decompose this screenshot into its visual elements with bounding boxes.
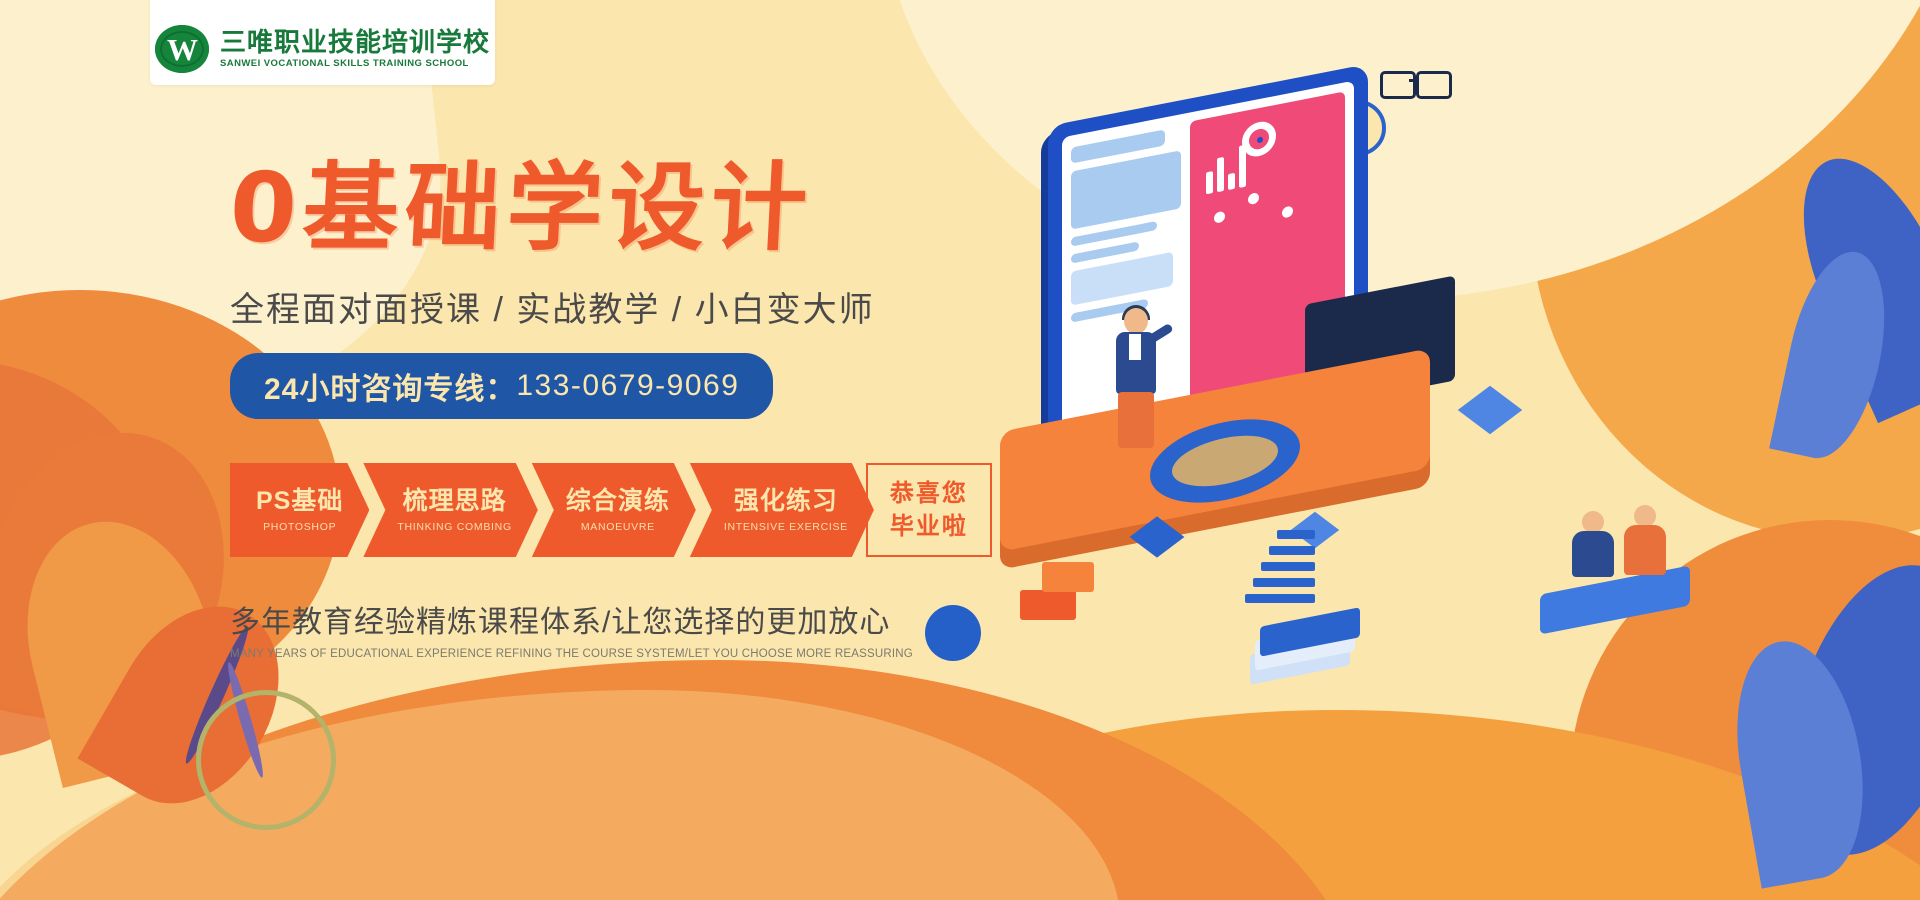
olive-ring-decoration	[196, 690, 336, 830]
step-item[interactable]: 强化练习 INTENSIVE EXERCISE	[690, 463, 874, 557]
step-item[interactable]: 梳理思路 THINKING COMBING	[363, 463, 537, 557]
card-stack-illustration	[1250, 605, 1360, 685]
seated-people-illustration	[1560, 505, 1690, 615]
step-label-cn: 综合演练	[566, 487, 670, 516]
step-label-en: INTENSIVE EXERCISE	[724, 521, 848, 533]
banner-content: 0基础学设计 全程面对面授课 / 实战教学 / 小白变大师 24小时咨询专线： …	[230, 160, 990, 660]
hotline-badge[interactable]: 24小时咨询专线： 133-0679-9069	[230, 353, 773, 419]
step-label-cn: 强化练习	[734, 487, 838, 516]
promo-banner: W 三唯职业技能培训学校 SANWEI VOCATIONAL SKILLS TR…	[0, 0, 1920, 900]
glasses-icon	[1380, 68, 1454, 96]
illustration	[1000, 60, 1900, 860]
tagline-en: MANY YEARS OF EDUCATIONAL EXPERIENCE REF…	[230, 648, 990, 660]
step-label-cn: 梳理思路	[403, 487, 507, 516]
graduation-badge[interactable]: 恭喜您 毕业啦	[866, 463, 992, 557]
cube-decoration-1	[1458, 386, 1523, 435]
graduation-line-1: 恭喜您	[890, 477, 968, 510]
hotline-number: 133-0679-9069	[516, 369, 739, 403]
subtitle: 全程面对面授课 / 实战教学 / 小白变大师	[230, 282, 990, 331]
presenter-figure	[1108, 308, 1166, 448]
step-label-en: PHOTOSHOP	[263, 521, 336, 533]
tagline-cn: 多年教育经验精炼课程体系/让您选择的更加放心	[230, 597, 990, 641]
course-steps: PS基础 PHOTOSHOP 梳理思路 THINKING COMBING 综合演…	[230, 463, 990, 557]
logo-mark-letter: W	[167, 34, 197, 65]
graduation-line-2: 毕业啦	[890, 510, 968, 543]
logo-w-icon: W	[155, 25, 209, 73]
blue-dot-decoration	[925, 605, 981, 661]
brand-name-en: SANWEI VOCATIONAL SKILLS TRAINING SCHOOL	[220, 58, 490, 69]
hotline-label: 24小时咨询专线：	[264, 364, 516, 408]
step-label-en: THINKING COMBING	[397, 521, 511, 533]
page-title: 0基础学设计	[227, 160, 992, 256]
brand-logo[interactable]: W 三唯职业技能培训学校 SANWEI VOCATIONAL SKILLS TR…	[150, 0, 495, 85]
step-label-en: MANOEUVRE	[581, 521, 655, 533]
step-label-cn: PS基础	[256, 487, 343, 516]
step-item[interactable]: PS基础 PHOTOSHOP	[230, 463, 369, 557]
brand-name-cn: 三唯职业技能培训学校	[220, 29, 490, 56]
step-item[interactable]: 综合演练 MANOEUVRE	[532, 463, 696, 557]
